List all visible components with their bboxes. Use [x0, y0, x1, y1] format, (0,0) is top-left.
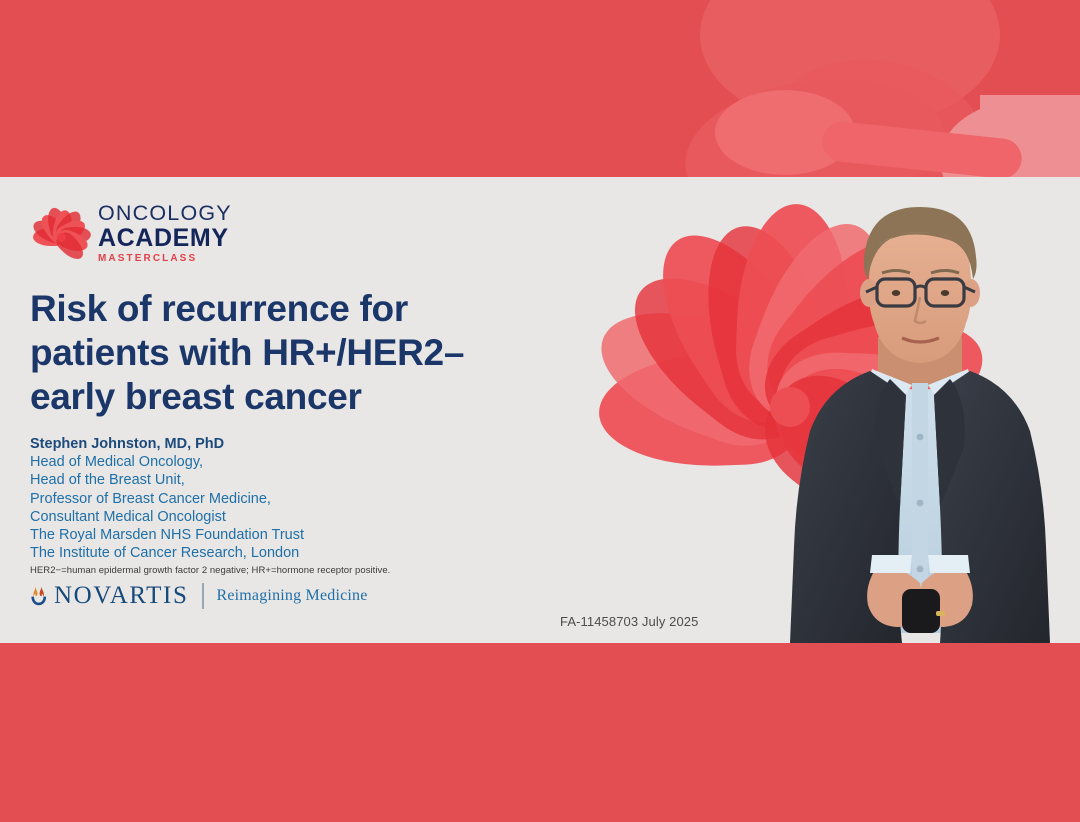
presenter-name: Stephen Johnston, MD, PhD [30, 435, 500, 453]
logo-line-masterclass: MASTERCLASS [98, 251, 232, 267]
title-line-3: early breast cancer [30, 375, 550, 419]
novartis-tagline: Reimagining Medicine [216, 587, 367, 605]
novartis-wordmark: NOVARTIS [54, 582, 188, 610]
presentation-slide: ONCOLOGY ACADEMY MASTERCLASS Risk of rec… [0, 177, 1080, 643]
title-line-1: Risk of recurrence for [30, 287, 550, 331]
novartis-flame-icon [28, 583, 50, 609]
oncology-academy-logo: ONCOLOGY ACADEMY MASTERCLASS [30, 202, 290, 274]
logo-line-oncology: ONCOLOGY [98, 202, 232, 225]
reference-code: FA-11458703 July 2025 [560, 614, 698, 629]
presenter-affil-6: The Institute of Cancer Research, London [30, 544, 500, 562]
presenter-affil-3: Professor of Breast Cancer Medicine, [30, 490, 500, 508]
slide-title: Risk of recurrence for patients with HR+… [30, 287, 550, 419]
presenter-video-feed [760, 187, 1080, 643]
novartis-logo: NOVARTIS Reimagining Medicine [28, 581, 368, 611]
presenter-affil-4: Consultant Medical Oncologist [30, 508, 500, 526]
logo-line-academy: ACADEMY [98, 225, 232, 251]
presenter-affil-1: Head of Medical Oncology, [30, 453, 500, 471]
top-band-decoration [0, 0, 1080, 177]
oncology-academy-flower-mark [30, 204, 92, 270]
novartis-divider [202, 583, 204, 609]
presenter-affil-5: The Royal Marsden NHS Foundation Trust [30, 526, 500, 544]
title-line-2: patients with HR+/HER2– [30, 331, 550, 375]
slide-viewer: ONCOLOGY ACADEMY MASTERCLASS Risk of rec… [0, 0, 1080, 822]
presenter-credentials: Stephen Johnston, MD, PhD Head of Medica… [30, 435, 500, 563]
abbreviations-footnote: HER2−=human epidermal growth factor 2 ne… [30, 565, 550, 577]
presenter-affil-2: Head of the Breast Unit, [30, 471, 500, 489]
